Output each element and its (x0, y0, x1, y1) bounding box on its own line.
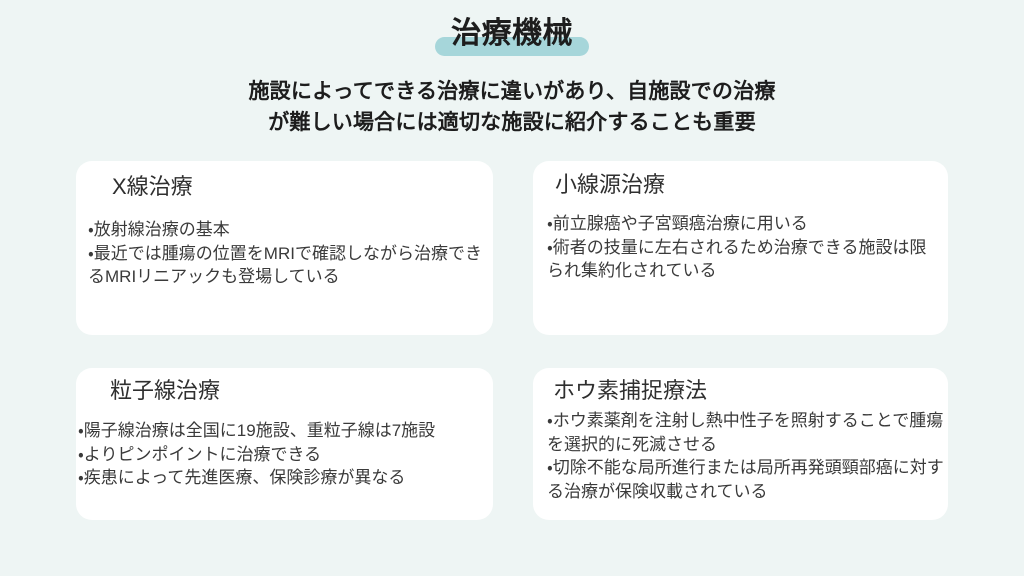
card-heading: ホウ素捕捉療法 (553, 376, 707, 406)
card-bullet: ・よりピンポイントに治療できる (78, 443, 490, 467)
slide-subtitle: 施設によってできる治療に違いがあり、自施設での治療 が難しい場合には適切な施設に… (0, 76, 1024, 138)
card-heading: 小線源治療 (555, 170, 665, 200)
card-particle-beam-therapy: 粒子線治療 ・陽子線治療は全国に19施設、重粒子線は7施設 ・よりピンポイントに… (76, 368, 493, 520)
card-body: ・陽子線治療は全国に19施設、重粒子線は7施設 ・よりピンポイントに治療できる … (78, 419, 490, 490)
card-bullet: ・疾患によって先進医療、保険診療が異なる (78, 466, 490, 490)
card-bullet: ・前立腺癌や子宮頸癌治療に用いる (547, 212, 943, 236)
card-body: ・放射線治療の基本 ・最近では腫瘍の位置をMRIで確認しながら治療できるMRIリ… (88, 218, 486, 289)
card-bullet: ・術者の技量に左右されるため治療できる施設は限られ集約化されている (547, 236, 943, 283)
card-body: ・ホウ素薬剤を注射し熱中性子を照射することで腫瘍を選択的に死滅させる ・切除不能… (547, 409, 945, 503)
title-wrap: 治療機械 (445, 12, 579, 56)
card-bullet: ・陽子線治療は全国に19施設、重粒子線は7施設 (78, 419, 490, 443)
slide-root: 治療機械 施設によってできる治療に違いがあり、自施設での治療 が難しい場合には適… (0, 0, 1024, 576)
subtitle-line-2: が難しい場合には適切な施設に紹介することも重要 (0, 107, 1024, 138)
card-bullet: ・ホウ素薬剤を注射し熱中性子を照射することで腫瘍を選択的に死滅させる (547, 409, 945, 456)
slide-title-block: 治療機械 (0, 12, 1024, 68)
subtitle-line-1: 施設によってできる治療に違いがあり、自施設での治療 (0, 76, 1024, 107)
card-x-ray-therapy: X線治療 ・放射線治療の基本 ・最近では腫瘍の位置をMRIで確認しながら治療でき… (76, 161, 493, 335)
card-heading: X線治療 (112, 172, 193, 202)
card-brachytherapy: 小線源治療 ・前立腺癌や子宮頸癌治療に用いる ・術者の技量に左右されるため治療で… (533, 161, 948, 335)
card-boron-neutron-capture-therapy: ホウ素捕捉療法 ・ホウ素薬剤を注射し熱中性子を照射することで腫瘍を選択的に死滅さ… (533, 368, 948, 520)
card-body: ・前立腺癌や子宮頸癌治療に用いる ・術者の技量に左右されるため治療できる施設は限… (547, 212, 943, 283)
card-heading: 粒子線治療 (110, 376, 220, 406)
card-bullet: ・切除不能な局所進行または局所再発頭頸部癌に対する治療が保険収載されている (547, 456, 945, 503)
page-title: 治療機械 (445, 12, 579, 56)
card-bullet: ・最近では腫瘍の位置をMRIで確認しながら治療できるMRIリニアックも登場してい… (88, 242, 486, 289)
card-bullet: ・放射線治療の基本 (88, 218, 486, 242)
